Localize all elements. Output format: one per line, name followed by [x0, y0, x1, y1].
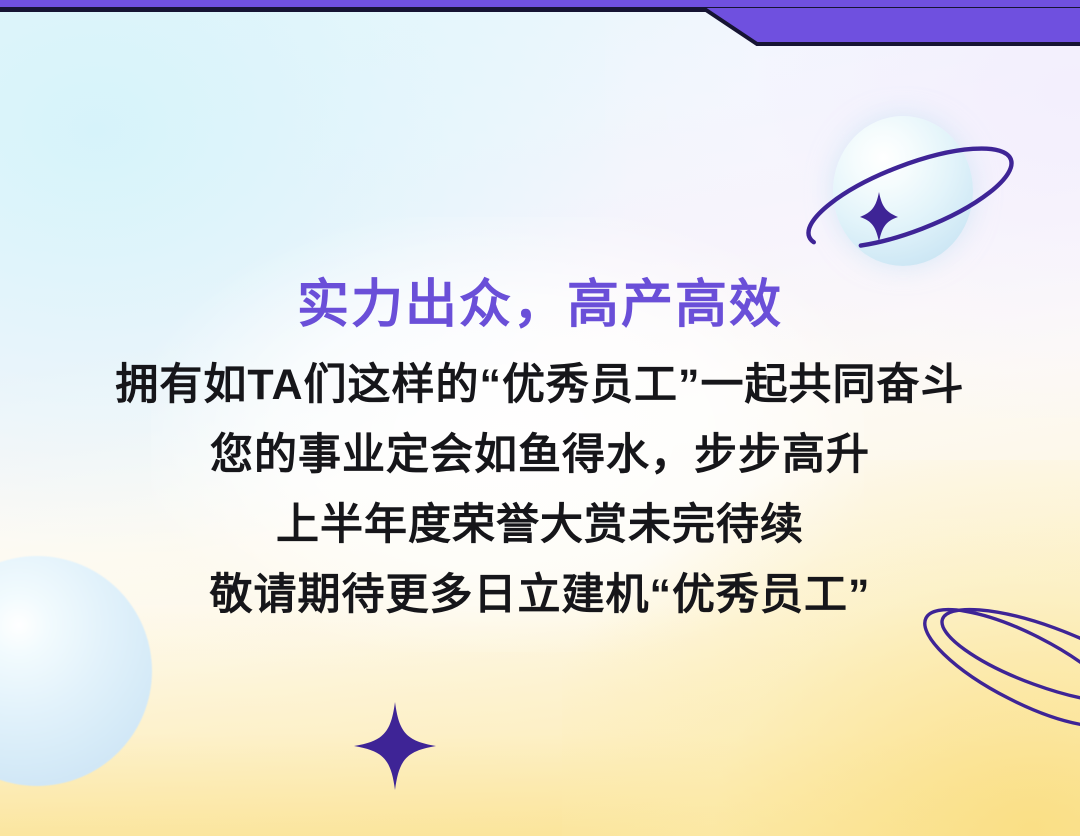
body-line-1: 拥有如TA们这样的“优秀员工”一起共同奋斗	[0, 364, 1080, 407]
angled-corner-tab	[0, 0, 1080, 52]
copy-block: 实力出众，高产高效 拥有如TA们这样的“优秀员工”一起共同奋斗 您的事业定会如鱼…	[0, 276, 1080, 617]
sparkle-star	[352, 700, 438, 792]
four-point-star-icon	[860, 192, 898, 242]
four-point-star-icon	[354, 702, 436, 790]
body-line-3: 上半年度荣誉大赏未完待续	[0, 504, 1080, 547]
page-title: 实力出众，高产高效	[0, 276, 1080, 334]
body-line-4: 敬请期待更多日立建机“优秀员工”	[0, 574, 1080, 617]
poster-canvas: 实力出众，高产高效 拥有如TA们这样的“优秀员工”一起共同奋斗 您的事业定会如鱼…	[0, 0, 1080, 836]
orbit-ring	[790, 108, 1030, 283]
body-line-2: 您的事业定会如鱼得水，步步高升	[0, 434, 1080, 477]
